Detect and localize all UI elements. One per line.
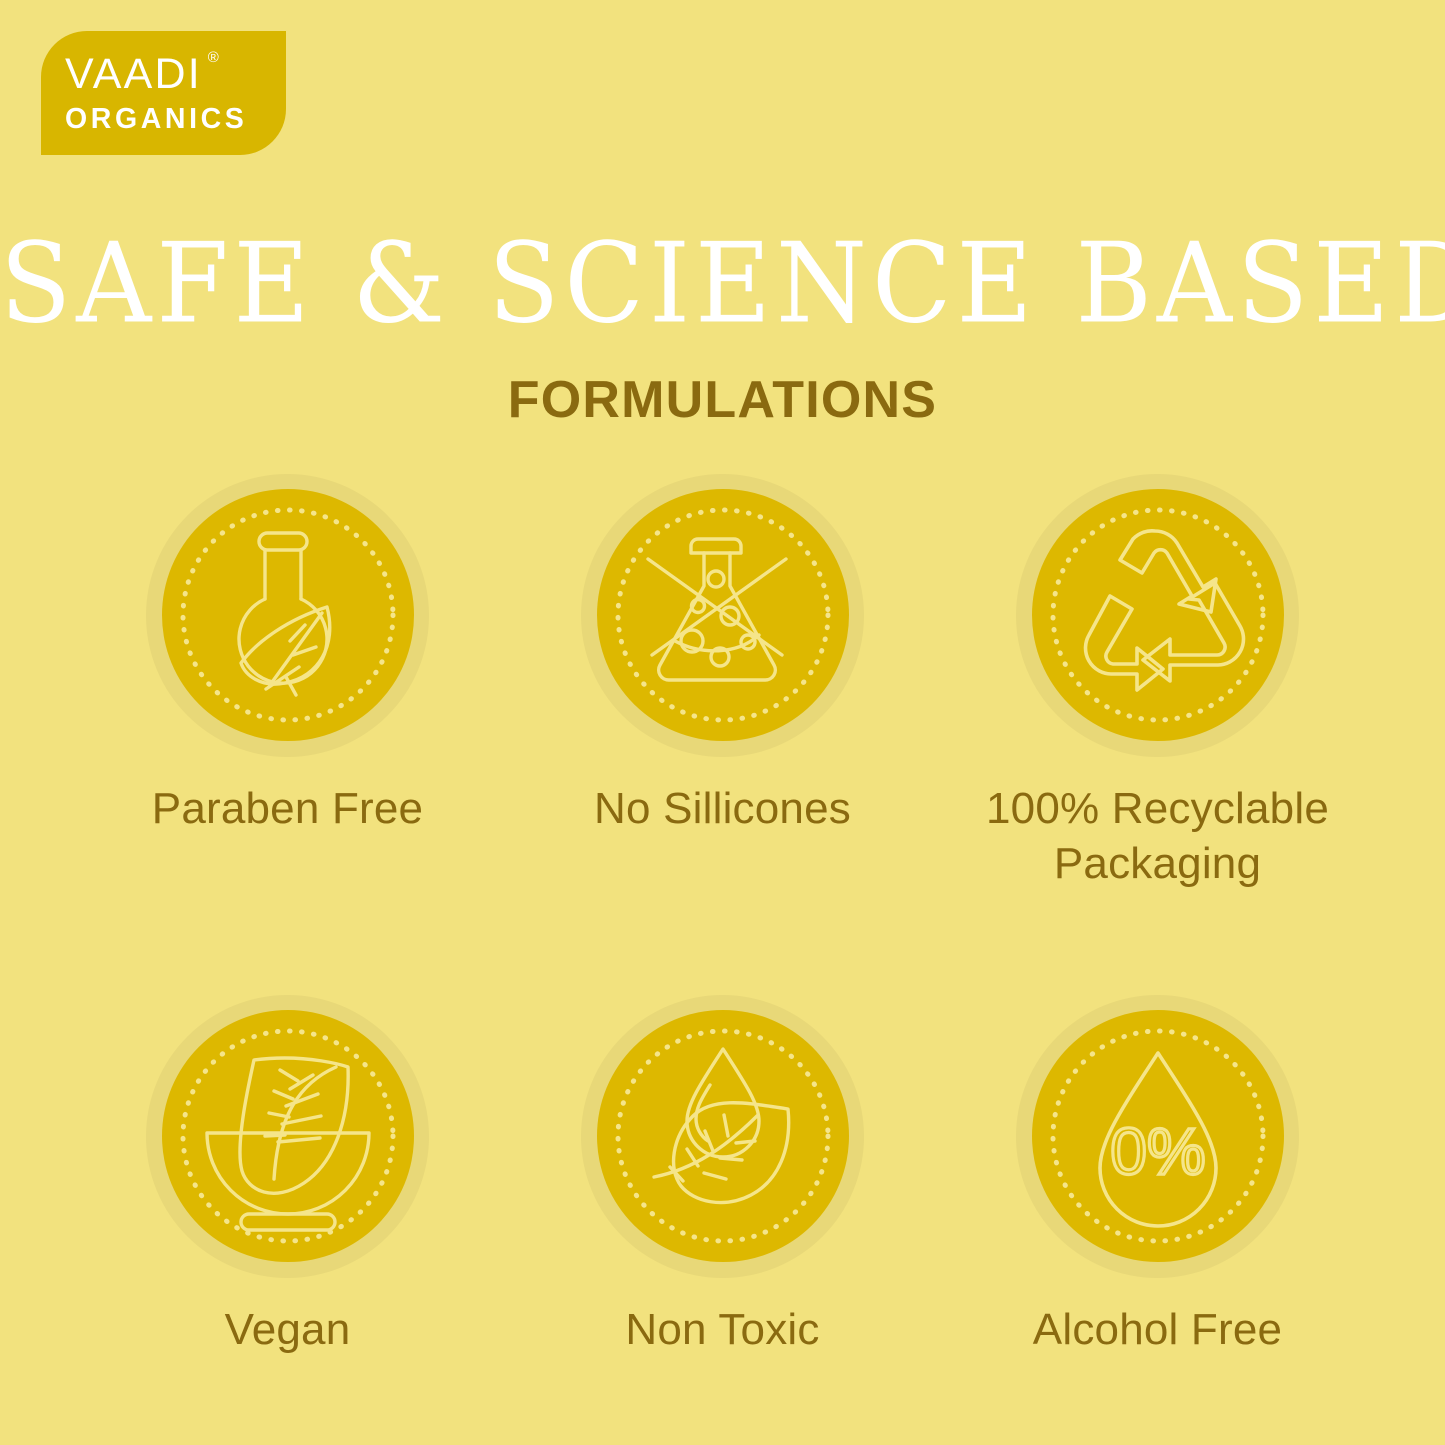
- badge-row-top: Paraben Free: [0, 470, 1445, 891]
- droplet-leaf-icon: [597, 1010, 849, 1262]
- badge-label: Vegan: [225, 1303, 351, 1358]
- registered-trademark-icon: ®: [208, 50, 219, 65]
- badge-medal: 0%: [1013, 991, 1303, 1281]
- badge-label: Alcohol Free: [1033, 1303, 1282, 1358]
- badge-paraben-free[interactable]: Paraben Free: [70, 470, 505, 837]
- badge-medal: [578, 991, 868, 1281]
- badge-row-bottom: Vegan: [0, 991, 1445, 1358]
- badge-medal: [143, 470, 433, 760]
- badge-no-sillicones[interactable]: No Sillicones: [505, 470, 940, 837]
- feature-badge-grid: Paraben Free: [0, 470, 1445, 1358]
- badge-label: Non Toxic: [625, 1303, 819, 1358]
- badge-label: 100% Recyclable Packaging: [948, 782, 1368, 891]
- badge-non-toxic[interactable]: Non Toxic: [505, 991, 940, 1358]
- flask-leaf-icon: [162, 489, 414, 741]
- badge-label: Paraben Free: [152, 782, 423, 837]
- page-title: SAFE & SCIENCE BASED: [0, 228, 1445, 338]
- badge-medal: [143, 991, 433, 1281]
- droplet-percent-text: 0%: [1110, 1114, 1205, 1188]
- badge-medal: [1013, 470, 1303, 760]
- brand-logo-name: VAADI®: [65, 53, 202, 96]
- badge-recyclable-packaging[interactable]: 100% Recyclable Packaging: [940, 470, 1375, 891]
- badge-vegan[interactable]: Vegan: [70, 991, 505, 1358]
- recycle-icon: [1032, 489, 1284, 741]
- page-subtitle: FORMULATIONS: [0, 374, 1445, 426]
- bowl-leaf-icon: [162, 1010, 414, 1262]
- no-silicones-flask-icon: [597, 489, 849, 741]
- brand-logo-name-text: VAADI: [65, 50, 202, 98]
- brand-logo-tagline: ORGANICS: [65, 105, 247, 134]
- badge-alcohol-free[interactable]: 0% Alcohol Free: [940, 991, 1375, 1358]
- badge-label: No Sillicones: [594, 782, 851, 837]
- badge-medal: [578, 470, 868, 760]
- brand-logo[interactable]: VAADI® ORGANICS: [41, 31, 286, 155]
- droplet-zero-percent-icon: 0%: [1032, 1010, 1284, 1262]
